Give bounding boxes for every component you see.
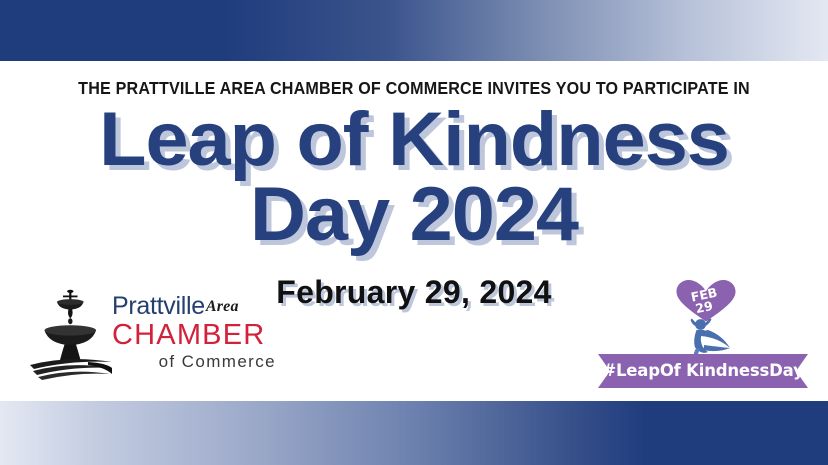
chamber-of-commerce-text: of Commerce — [112, 352, 278, 372]
bottom-gradient-bar — [0, 401, 828, 465]
leap-of-kindness-badge: FEB 29 #LeapOf KindnessDay — [598, 276, 808, 392]
ribbon-banner — [598, 354, 808, 388]
leap-of-kindness-flyer: THE PRATTVILLE AREA CHAMBER OF COMMERCE … — [0, 0, 828, 465]
chamber-logo: PrattvilleArea CHAMBER of Commerce — [28, 282, 278, 386]
chamber-chamber-text: CHAMBER — [112, 321, 278, 351]
headline-line-1: Leap of Kindness — [0, 104, 828, 177]
fountain-icon — [28, 284, 114, 384]
chamber-wordmark: PrattvilleArea CHAMBER of Commerce — [112, 292, 278, 372]
invitation-line: THE PRATTVILLE AREA CHAMBER OF COMMERCE … — [33, 78, 795, 99]
chamber-prattville-text: Prattville — [112, 292, 205, 320]
page-title: Leap of Kindness Day 2024 — [0, 104, 828, 252]
top-gradient-bar — [0, 0, 828, 61]
chamber-area-text: Area — [206, 298, 239, 315]
headline-line-2: Day 2024 — [0, 179, 828, 252]
chamber-line-1: PrattvilleArea — [112, 292, 278, 320]
heart-and-leaping-figure-icon: FEB 29 — [660, 276, 752, 364]
